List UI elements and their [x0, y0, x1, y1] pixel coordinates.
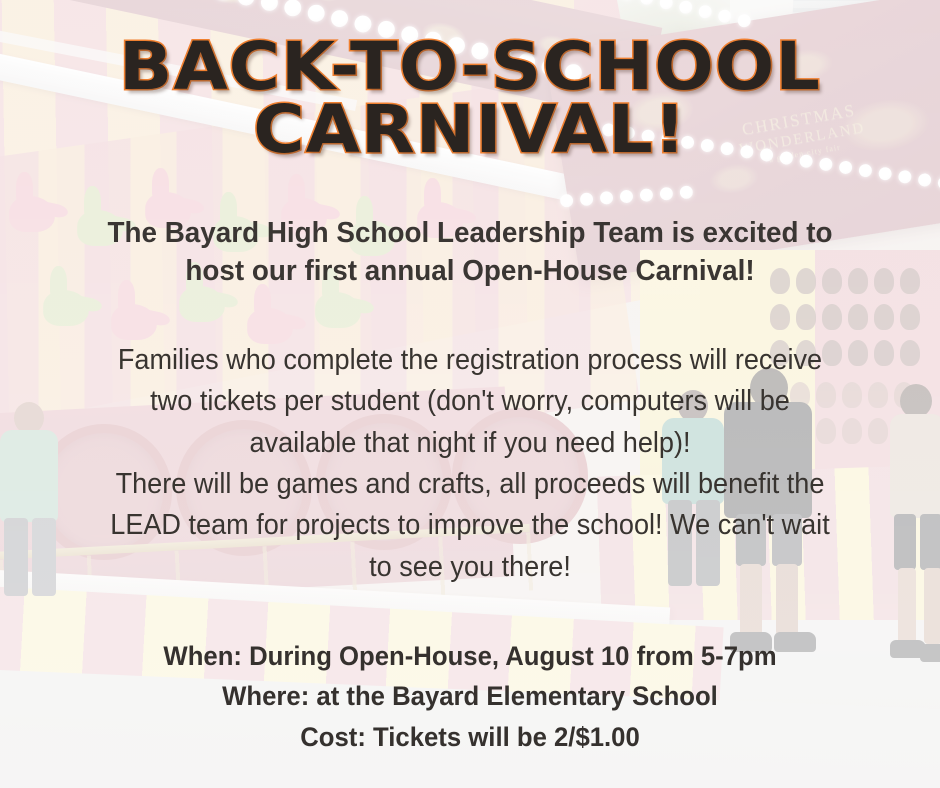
title-line-2: Carnival! [0, 99, 940, 162]
poster-canvas: CHRISTMAS WONDERLAND a garden city fair [0, 0, 940, 788]
subtitle-line-1: The Bayard High School Leadership Team i… [107, 217, 832, 249]
body-p1-line-1: Families who complete the registration p… [118, 344, 822, 376]
body-p1-line-2: two tickets per student (don't worry, co… [150, 385, 790, 417]
poster-content: Back-to-School Carnival! The Bayard High… [0, 0, 940, 788]
poster-body: Families who complete the registration p… [52, 340, 888, 588]
detail-where: Where: at the Bayard Elementary School [53, 676, 887, 716]
detail-when: When: During Open-House, August 10 from … [53, 636, 887, 676]
poster-details: When: During Open-House, August 10 from … [53, 636, 887, 757]
body-paragraph-2: There will be games and crafts, all proc… [52, 464, 888, 588]
title-line-1: Back-to-School [0, 36, 940, 99]
body-p2-line-2: LEAD team for projects to improve the sc… [110, 509, 829, 541]
body-p2-line-1: There will be games and crafts, all proc… [116, 468, 825, 500]
subtitle-line-2: host our first annual Open-House Carniva… [185, 255, 754, 287]
body-paragraph-1: Families who complete the registration p… [52, 340, 888, 464]
body-p1-line-3: available that night if you need help)! [249, 427, 690, 459]
body-p2-line-3: to see you there! [369, 551, 571, 583]
poster-title: Back-to-School Carnival! [0, 36, 940, 161]
poster-subtitle: The Bayard High School Leadership Team i… [67, 214, 873, 291]
detail-cost: Cost: Tickets will be 2/$1.00 [53, 717, 887, 757]
